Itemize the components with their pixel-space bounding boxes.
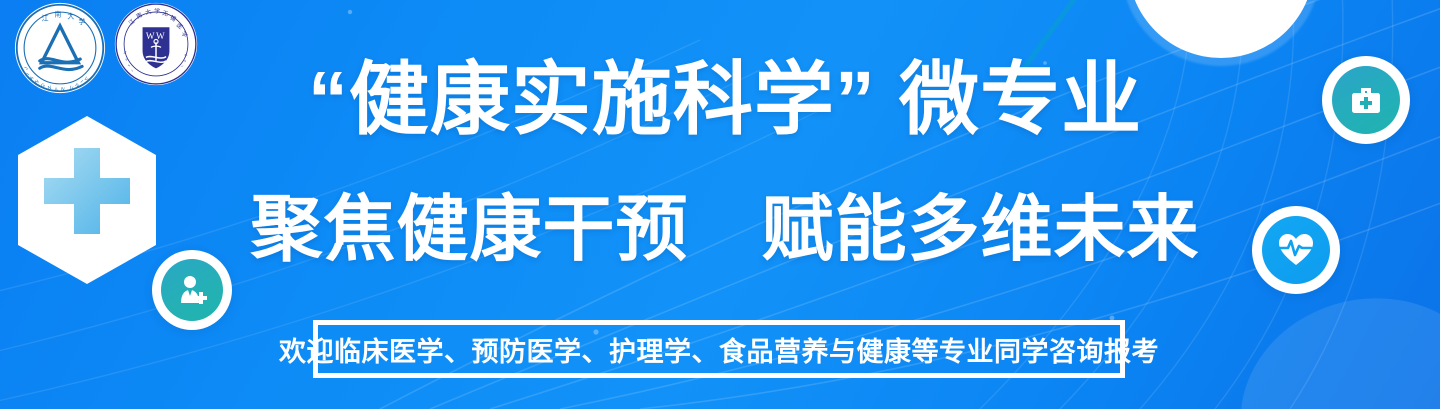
medical-kit-icon (1332, 66, 1400, 134)
medical-cross-hexagon-icon (8, 112, 166, 288)
svg-text:学: 学 (78, 17, 85, 26)
doctor-icon (161, 259, 223, 321)
svg-text:南: 南 (54, 10, 61, 19)
doctor-badge (152, 250, 232, 330)
jiangnan-university-logo: 江南大学 J I A N G N A N U N I V (14, 2, 106, 94)
top-white-blob (1128, 0, 1314, 58)
enrollment-note-text: 欢迎临床医学、预防医学、护理学、食品营养与健康等专业同学咨询报考 (279, 330, 1159, 369)
enrollment-note-frame: 欢迎临床医学、预防医学、护理学、食品营养与健康等专业同学咨询报考 (313, 320, 1125, 378)
heart-pulse-badge (1252, 206, 1340, 294)
logo-group: 江南大学 J I A N G N A N U N I V (14, 2, 198, 94)
corner-wedge (1219, 274, 1440, 409)
svg-text:W: W (146, 31, 155, 41)
svg-text:大: 大 (67, 12, 74, 21)
svg-text:学: 学 (154, 7, 160, 15)
wuxi-medical-school-logo: WW 江 南 大 学 无 锡 医 学 W u x i U (114, 2, 198, 86)
medical-kit-badge (1322, 56, 1410, 144)
page-title: “健康实施科学” 微专业 (250, 52, 1200, 148)
page-subtitle: 聚焦健康干预 赋能多维未来 (250, 186, 1200, 274)
promo-banner: 江南大学 J I A N G N A N U N I V (0, 0, 1440, 409)
heart-pulse-icon (1262, 216, 1330, 284)
svg-text:江: 江 (42, 14, 49, 22)
